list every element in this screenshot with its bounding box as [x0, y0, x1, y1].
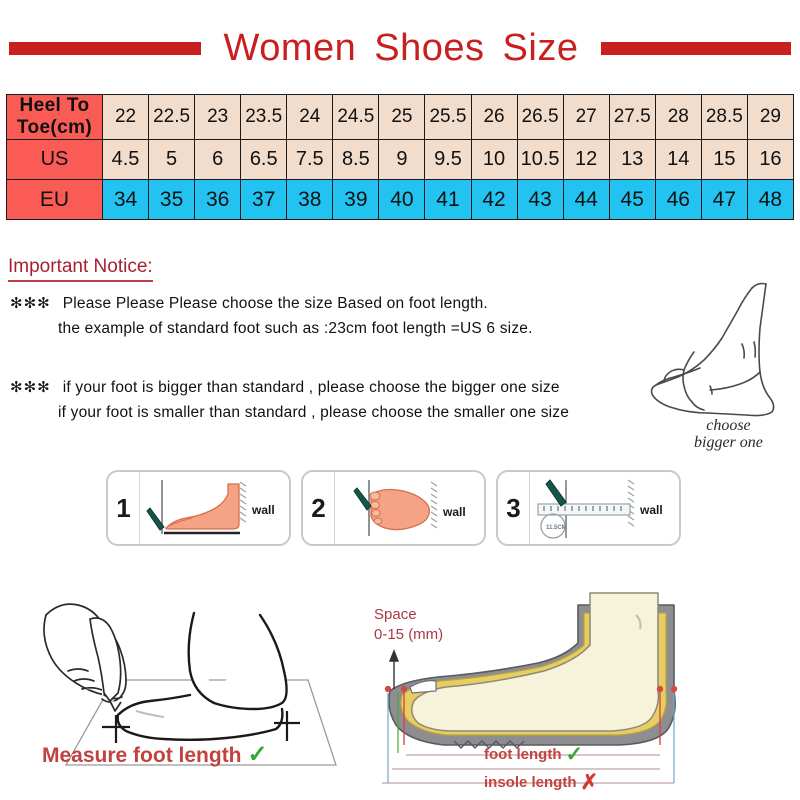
cell-us-13: 15: [701, 140, 747, 180]
cell-cm-3: 23.5: [241, 95, 287, 140]
cell-us-1: 5: [149, 140, 195, 180]
svg-text:wall: wall: [639, 503, 663, 517]
cell-cm-7: 25.5: [425, 95, 471, 140]
cell-cm-12: 28: [655, 95, 701, 140]
insole-length-text: insole length: [484, 773, 577, 793]
cell-eu-14: 48: [747, 180, 793, 220]
cell-cm-4: 24: [287, 95, 333, 140]
cell-us-5: 8.5: [333, 140, 379, 180]
step-2: 2: [301, 470, 486, 546]
row-label-eu: EU: [7, 180, 103, 220]
cell-us-12: 14: [655, 140, 701, 180]
title-text: WomenShoesSize: [215, 27, 588, 70]
cell-us-3: 6.5: [241, 140, 287, 180]
cell-us-4: 7.5: [287, 140, 333, 180]
cell-cm-11: 27.5: [609, 95, 655, 140]
space-label-line-1: Space: [374, 605, 443, 625]
title-word-1: Women: [215, 27, 366, 69]
choose-caption-line-1: choose: [694, 418, 763, 435]
cell-eu-10: 44: [563, 180, 609, 220]
cell-us-2: 6: [195, 140, 241, 180]
cell-eu-6: 40: [379, 180, 425, 220]
foot-sole-against-wall-icon: wall: [335, 472, 484, 546]
choose-bigger-one-caption: choose bigger one: [694, 418, 763, 452]
cell-us-14: 16: [747, 140, 793, 180]
notice-line-3-text: if your foot is bigger than standard , p…: [63, 379, 560, 396]
cell-cm-2: 23: [195, 95, 241, 140]
cell-cm-8: 26: [471, 95, 517, 140]
cell-eu-11: 45: [609, 180, 655, 220]
cell-cm-9: 26.5: [517, 95, 563, 140]
cell-eu-5: 39: [333, 180, 379, 220]
measure-foot-length-caption: Measure foot length✓: [42, 740, 268, 769]
measurement-steps: 1 wall: [106, 470, 681, 546]
insole-length-label: insole length✗: [484, 769, 608, 797]
notice-line-3: ✻✻✻if your foot is bigger than standard …: [10, 378, 560, 397]
title-word-2: Shoes: [365, 27, 493, 69]
foot-length-text: foot length: [484, 745, 561, 765]
cell-cm-5: 24.5: [333, 95, 379, 140]
svg-text:11.5CM: 11.5CM: [546, 525, 567, 531]
step-3: 3: [496, 470, 681, 546]
cell-us-7: 9.5: [425, 140, 471, 180]
foot-length-label: foot length✓: [484, 741, 608, 769]
size-chart-page: WomenShoesSize Heel To Toe(cm) 22 22.5 2…: [0, 0, 800, 800]
step-2-illustration: wall: [335, 472, 484, 544]
cell-cm-0: 22: [103, 95, 149, 140]
row-label-heel-to-toe: Heel To Toe(cm): [7, 95, 103, 140]
cell-eu-0: 34: [103, 180, 149, 220]
asterisk-icon-2: ✻✻✻: [10, 379, 51, 396]
cross-mark-icon-outsole: ✗: [591, 796, 609, 800]
svg-text:wall: wall: [442, 505, 466, 519]
cell-eu-7: 41: [425, 180, 471, 220]
cell-cm-14: 29: [747, 95, 793, 140]
check-mark-icon-foot: ✓: [565, 741, 583, 769]
cross-mark-icon-insole: ✗: [581, 769, 599, 797]
table-row-eu: EU 34 35 36 37 38 39 40 41 42 43 44 45 4…: [7, 180, 794, 220]
important-notice-heading: Important Notice:: [8, 256, 153, 282]
size-conversion-table: Heel To Toe(cm) 22 22.5 23 23.5 24 24.5 …: [6, 94, 794, 220]
step-3-number: 3: [498, 472, 530, 544]
title-bar-right-decoration: [601, 42, 791, 55]
cell-eu-8: 42: [471, 180, 517, 220]
table-row-heel-to-toe: Heel To Toe(cm) 22 22.5 23 23.5 24 24.5 …: [7, 95, 794, 140]
table-row-us: US 4.5 5 6 6.5 7.5 8.5 9 9.5 10 10.5 12 …: [7, 140, 794, 180]
choose-caption-line-2: bigger one: [694, 435, 763, 452]
cell-cm-6: 25: [379, 95, 425, 140]
check-mark-icon: ✓: [248, 741, 268, 768]
cell-eu-4: 38: [287, 180, 333, 220]
space-label: Space 0-15 (mm): [374, 605, 443, 646]
cell-cm-13: 28.5: [701, 95, 747, 140]
notice-line-1: ✻✻✻Please Please Please choose the size …: [10, 294, 488, 313]
cell-eu-13: 47: [701, 180, 747, 220]
cell-us-9: 10.5: [517, 140, 563, 180]
step-3-illustration: 11.5CM wall: [530, 472, 679, 544]
notice-line-2: the example of standard foot such as :23…: [58, 320, 533, 338]
cell-eu-12: 46: [655, 180, 701, 220]
cell-us-10: 12: [563, 140, 609, 180]
outsole-length-label: outsole length✗: [484, 796, 608, 800]
cell-us-11: 13: [609, 140, 655, 180]
asterisk-icon: ✻✻✻: [10, 295, 51, 312]
svg-text:wall: wall: [251, 503, 275, 517]
step-2-number: 2: [303, 472, 335, 544]
foot-side-against-wall-icon: wall: [140, 472, 289, 546]
cell-eu-1: 35: [149, 180, 195, 220]
step-1-number: 1: [108, 472, 140, 544]
cell-cm-1: 22.5: [149, 95, 195, 140]
cell-us-8: 10: [471, 140, 517, 180]
cell-us-0: 4.5: [103, 140, 149, 180]
cell-eu-3: 37: [241, 180, 287, 220]
notice-line-1-text: Please Please Please choose the size Bas…: [63, 295, 488, 312]
cell-cm-10: 27: [563, 95, 609, 140]
notice-line-4: if your foot is smaller than standard , …: [58, 404, 569, 422]
cell-eu-2: 36: [195, 180, 241, 220]
length-labels: foot length✓ insole length✗ outsole leng…: [484, 741, 608, 800]
measure-caption-text: Measure foot length: [42, 744, 242, 767]
title-word-3: Size: [494, 27, 588, 69]
step-1-illustration: wall: [140, 472, 289, 544]
space-label-line-2: 0-15 (mm): [374, 625, 443, 645]
ruler-measure-icon: 11.5CM wall: [530, 472, 679, 546]
row-label-us: US: [7, 140, 103, 180]
page-title: WomenShoesSize: [0, 22, 800, 74]
cell-us-6: 9: [379, 140, 425, 180]
cell-eu-9: 43: [517, 180, 563, 220]
step-1: 1 wall: [106, 470, 291, 546]
title-bar-left-decoration: [9, 42, 201, 55]
